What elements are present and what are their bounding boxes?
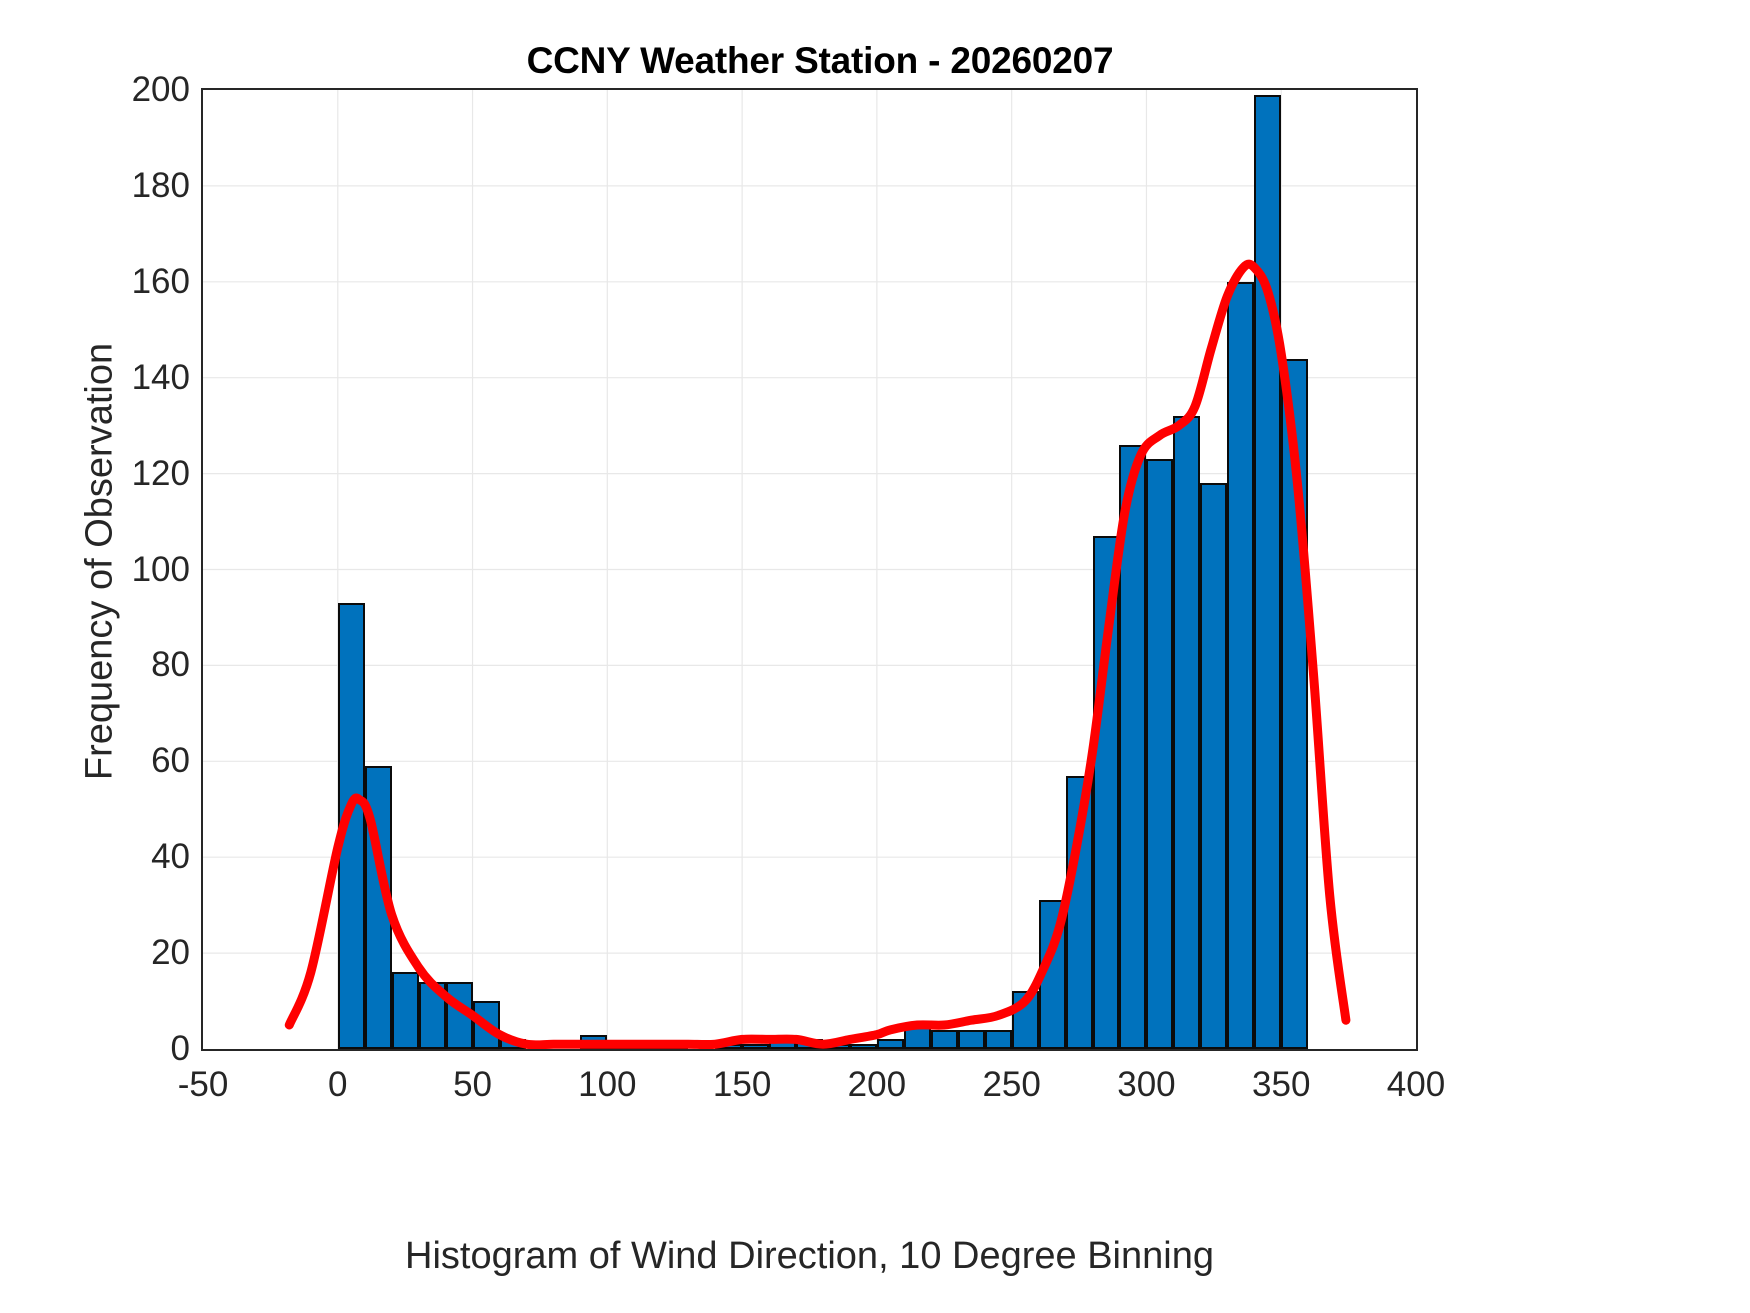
x-tick-label: 250: [942, 1065, 1082, 1105]
kde-curve-path: [289, 264, 1346, 1045]
y-tick-label: 180: [104, 166, 190, 206]
y-tick-label: 40: [104, 837, 190, 877]
x-tick-label: 50: [403, 1065, 543, 1105]
y-tick-label: 100: [104, 550, 190, 590]
x-tick-label: 100: [537, 1065, 677, 1105]
x-tick-label: 300: [1076, 1065, 1216, 1105]
x-tick-label: 400: [1346, 1065, 1486, 1105]
x-tick-label: 150: [672, 1065, 812, 1105]
figure-canvas: CCNY Weather Station - 20260207 Frequenc…: [0, 0, 1750, 1313]
x-tick-label: -50: [133, 1065, 273, 1105]
page-title: CCNY Weather Station - 20260207: [0, 40, 1640, 82]
y-tick-label: 120: [104, 454, 190, 494]
y-axis-ticks: 020406080100120140160180200: [95, 88, 190, 1051]
x-axis-ticks: -50050100150200250300350400: [201, 1055, 1418, 1115]
plot-area: [201, 88, 1418, 1051]
y-tick-label: 20: [104, 933, 190, 973]
y-tick-label: 140: [104, 358, 190, 398]
x-tick-label: 350: [1211, 1065, 1351, 1105]
y-tick-label: 0: [104, 1029, 190, 1069]
y-tick-label: 60: [104, 741, 190, 781]
x-axis-label: Histogram of Wind Direction, 10 Degree B…: [201, 1235, 1418, 1278]
x-tick-label: 0: [268, 1065, 408, 1105]
x-tick-label: 200: [807, 1065, 947, 1105]
density-curve: [203, 90, 1416, 1049]
y-tick-label: 160: [104, 262, 190, 302]
y-tick-label: 80: [104, 645, 190, 685]
y-tick-label: 200: [104, 70, 190, 110]
